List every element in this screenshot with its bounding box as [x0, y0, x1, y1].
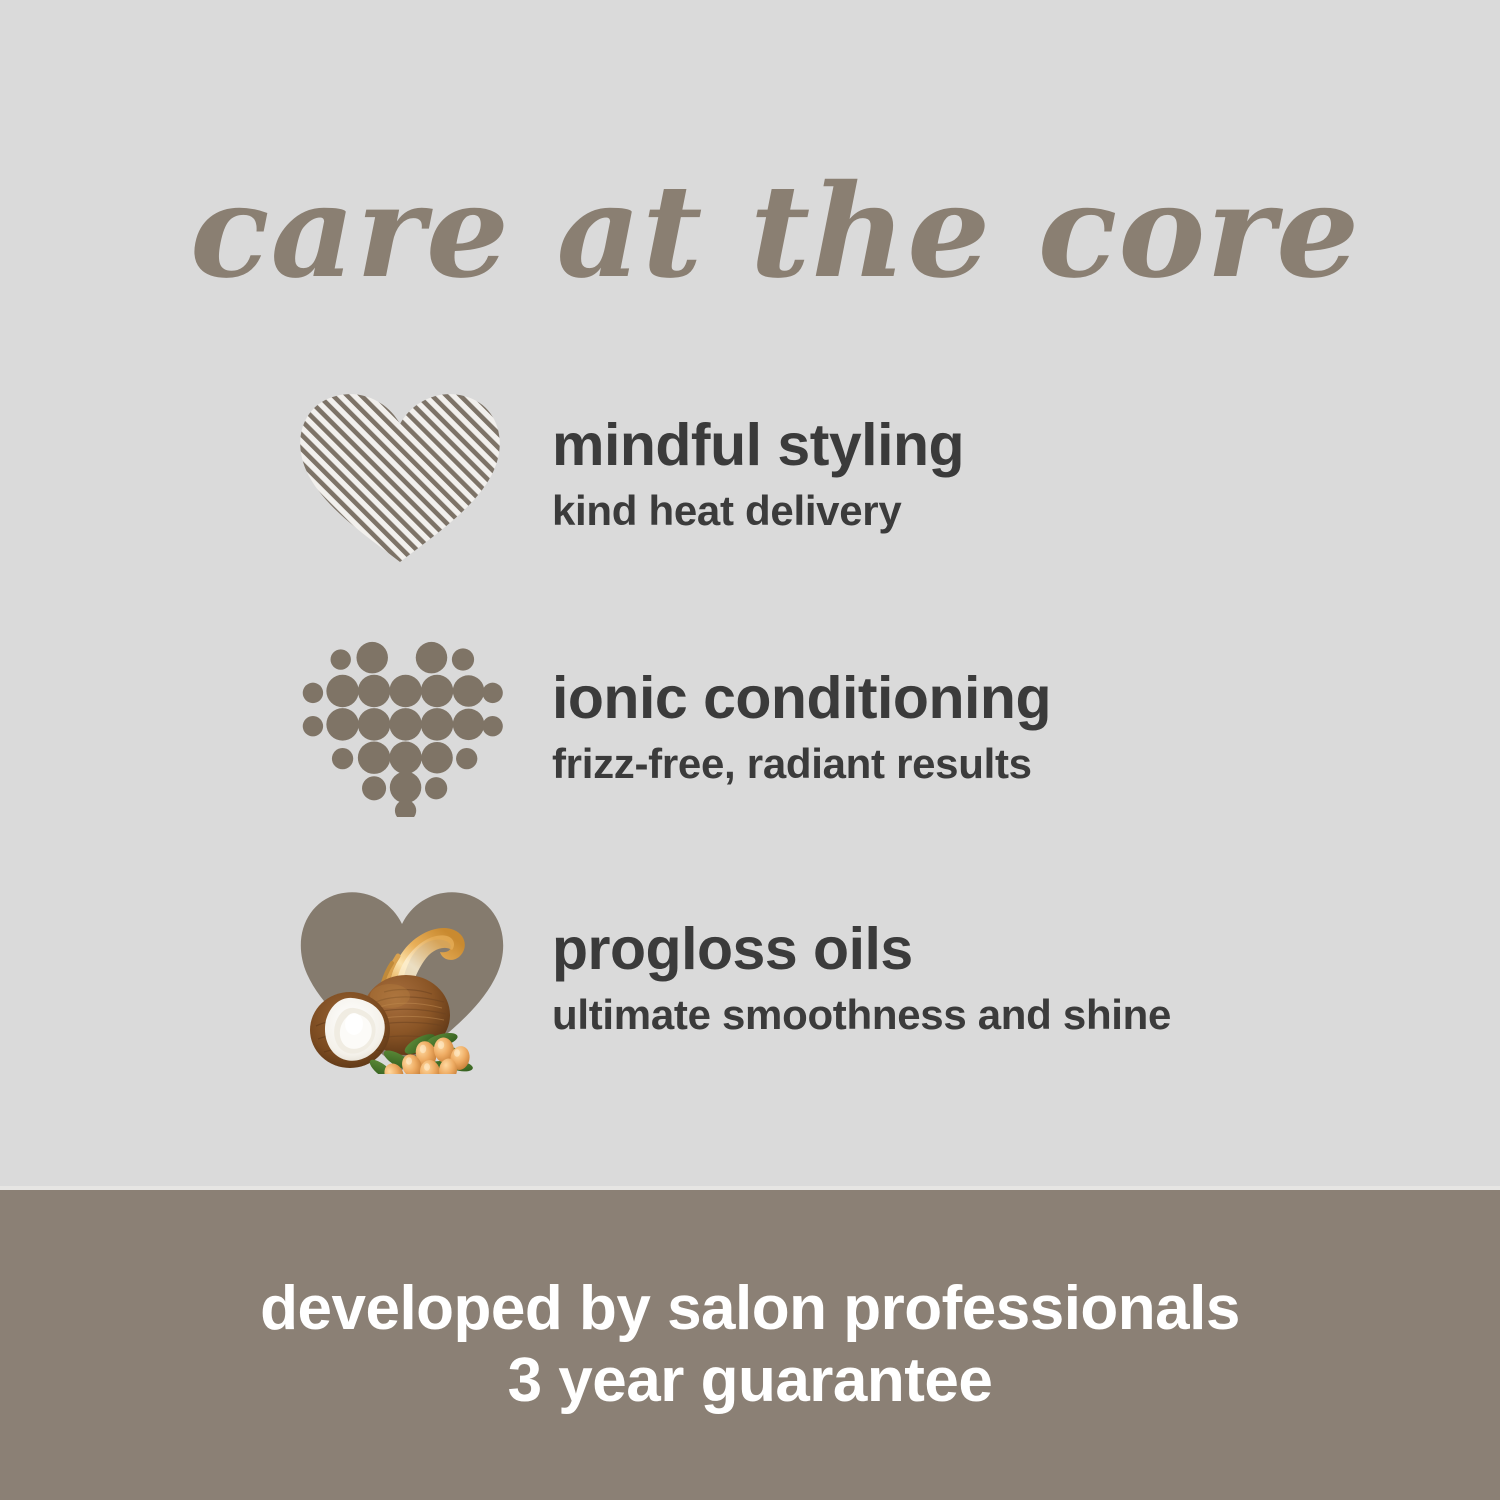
- banner-line-2: 3 year guarantee: [508, 1345, 993, 1417]
- feature-row: ionic conditioning frizz-free, radiant r…: [290, 625, 1420, 825]
- coconut-argan-heart-icon: [290, 876, 512, 1076]
- marketing-graphic: care at the core mindful sty: [0, 0, 1500, 1500]
- page-title: care at the core: [190, 162, 1394, 302]
- feature-subtitle: ultimate smoothness and shine: [552, 991, 1420, 1038]
- dotted-heart-icon: [290, 625, 512, 825]
- banner-line-1: developed by salon professionals: [260, 1273, 1240, 1345]
- feature-title: progloss oils: [552, 918, 1420, 981]
- feature-row: progloss oils ultimate smoothness and sh…: [290, 876, 1420, 1076]
- feature-subtitle: kind heat delivery: [552, 487, 1420, 534]
- feature-title: mindful styling: [552, 414, 1420, 477]
- feature-subtitle: frizz-free, radiant results: [552, 740, 1420, 787]
- feature-text: ionic conditioning frizz-free, radiant r…: [512, 667, 1420, 787]
- feature-title: ionic conditioning: [552, 667, 1420, 730]
- striped-heart-icon: [290, 372, 512, 572]
- feature-text: mindful styling kind heat delivery: [512, 414, 1420, 534]
- feature-text: progloss oils ultimate smoothness and sh…: [512, 918, 1420, 1038]
- guarantee-banner: developed by salon professionals 3 year …: [0, 1190, 1500, 1500]
- feature-row: mindful styling kind heat delivery: [290, 372, 1420, 572]
